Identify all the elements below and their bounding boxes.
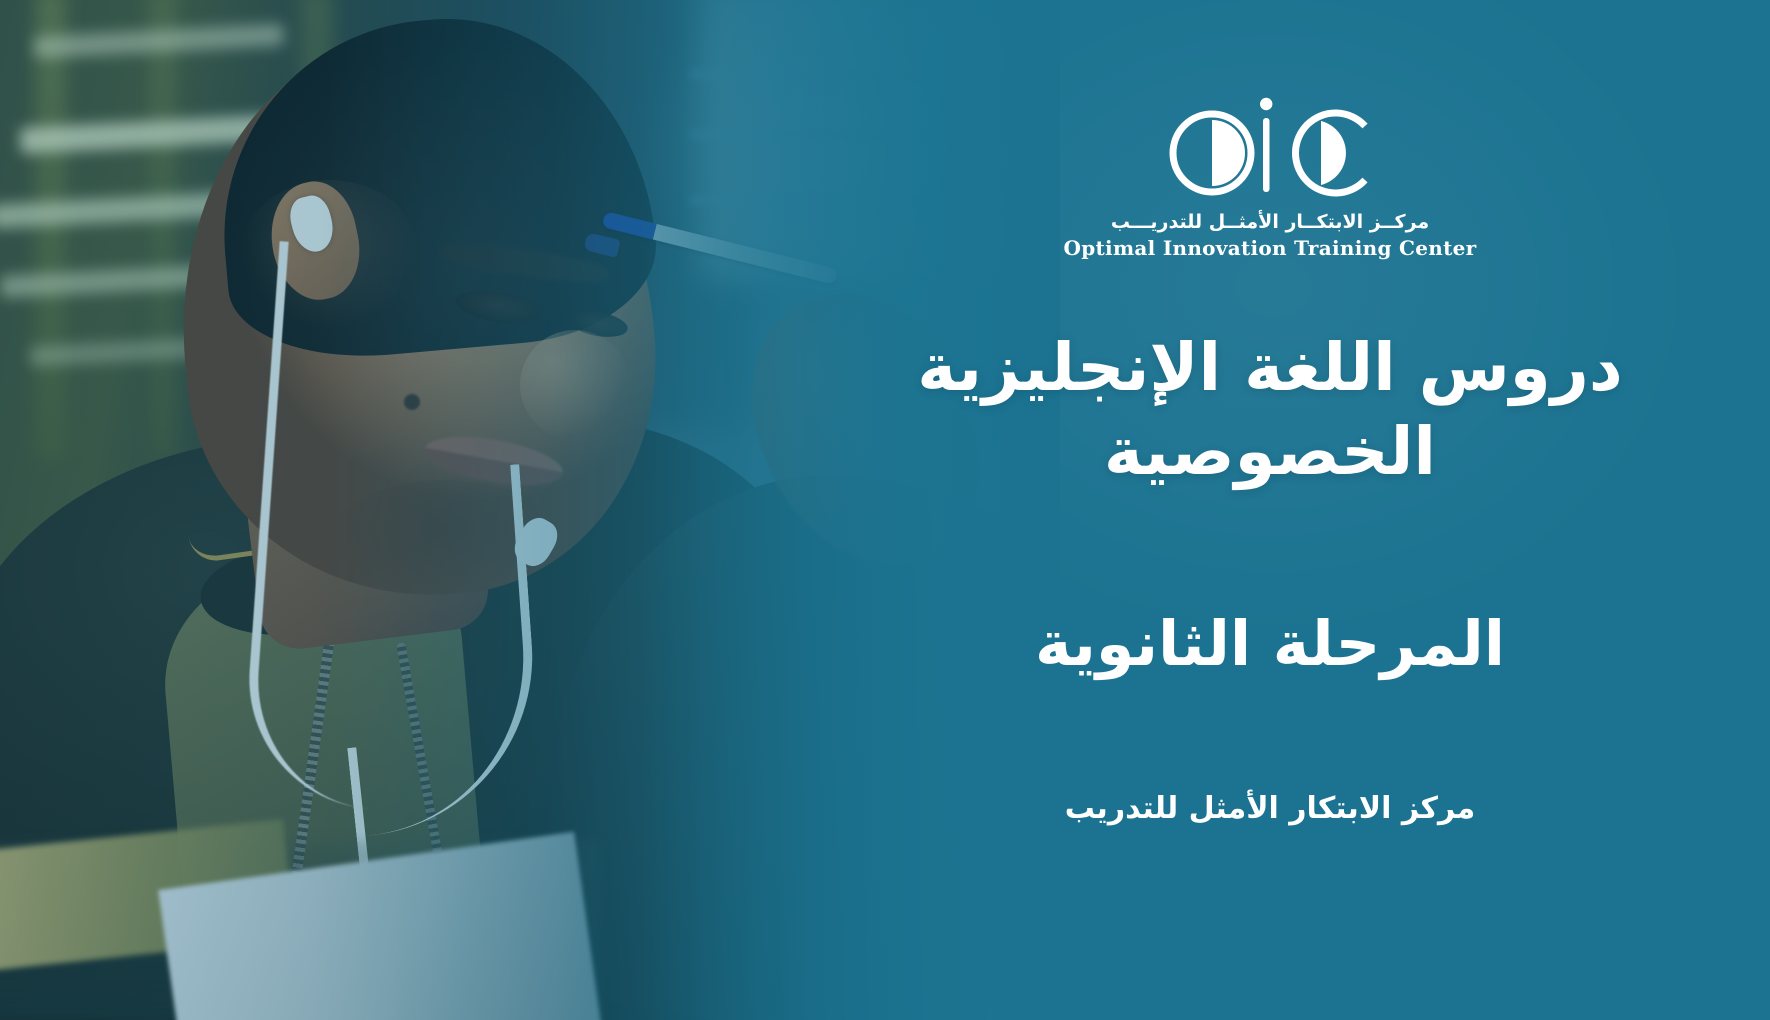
content-column: مركــز الابتكــار الأمثــل للتدريـــب Op… [840,0,1700,1020]
oic-monogram-icon [1160,96,1380,201]
promo-banner: مركــز الابتكــار الأمثــل للتدريـــب Op… [0,0,1770,1020]
title-line-2: الخصوصية [1104,413,1436,490]
footer-center-name: مركز الابتكار الأمثل للتدريب [865,791,1675,826]
logo-block: مركــز الابتكــار الأمثــل للتدريـــب Op… [840,96,1700,260]
logo-arabic-name: مركــز الابتكــار الأمثــل للتدريـــب [1111,211,1429,233]
stage-heading: المرحلة الثانوية [865,607,1675,681]
logo-english-name: Optimal Innovation Training Center [1064,236,1477,260]
title-line-1: دروس اللغة الإنجليزية [917,329,1622,406]
page-title: دروس اللغة الإنجليزية الخصوصية [865,326,1675,495]
